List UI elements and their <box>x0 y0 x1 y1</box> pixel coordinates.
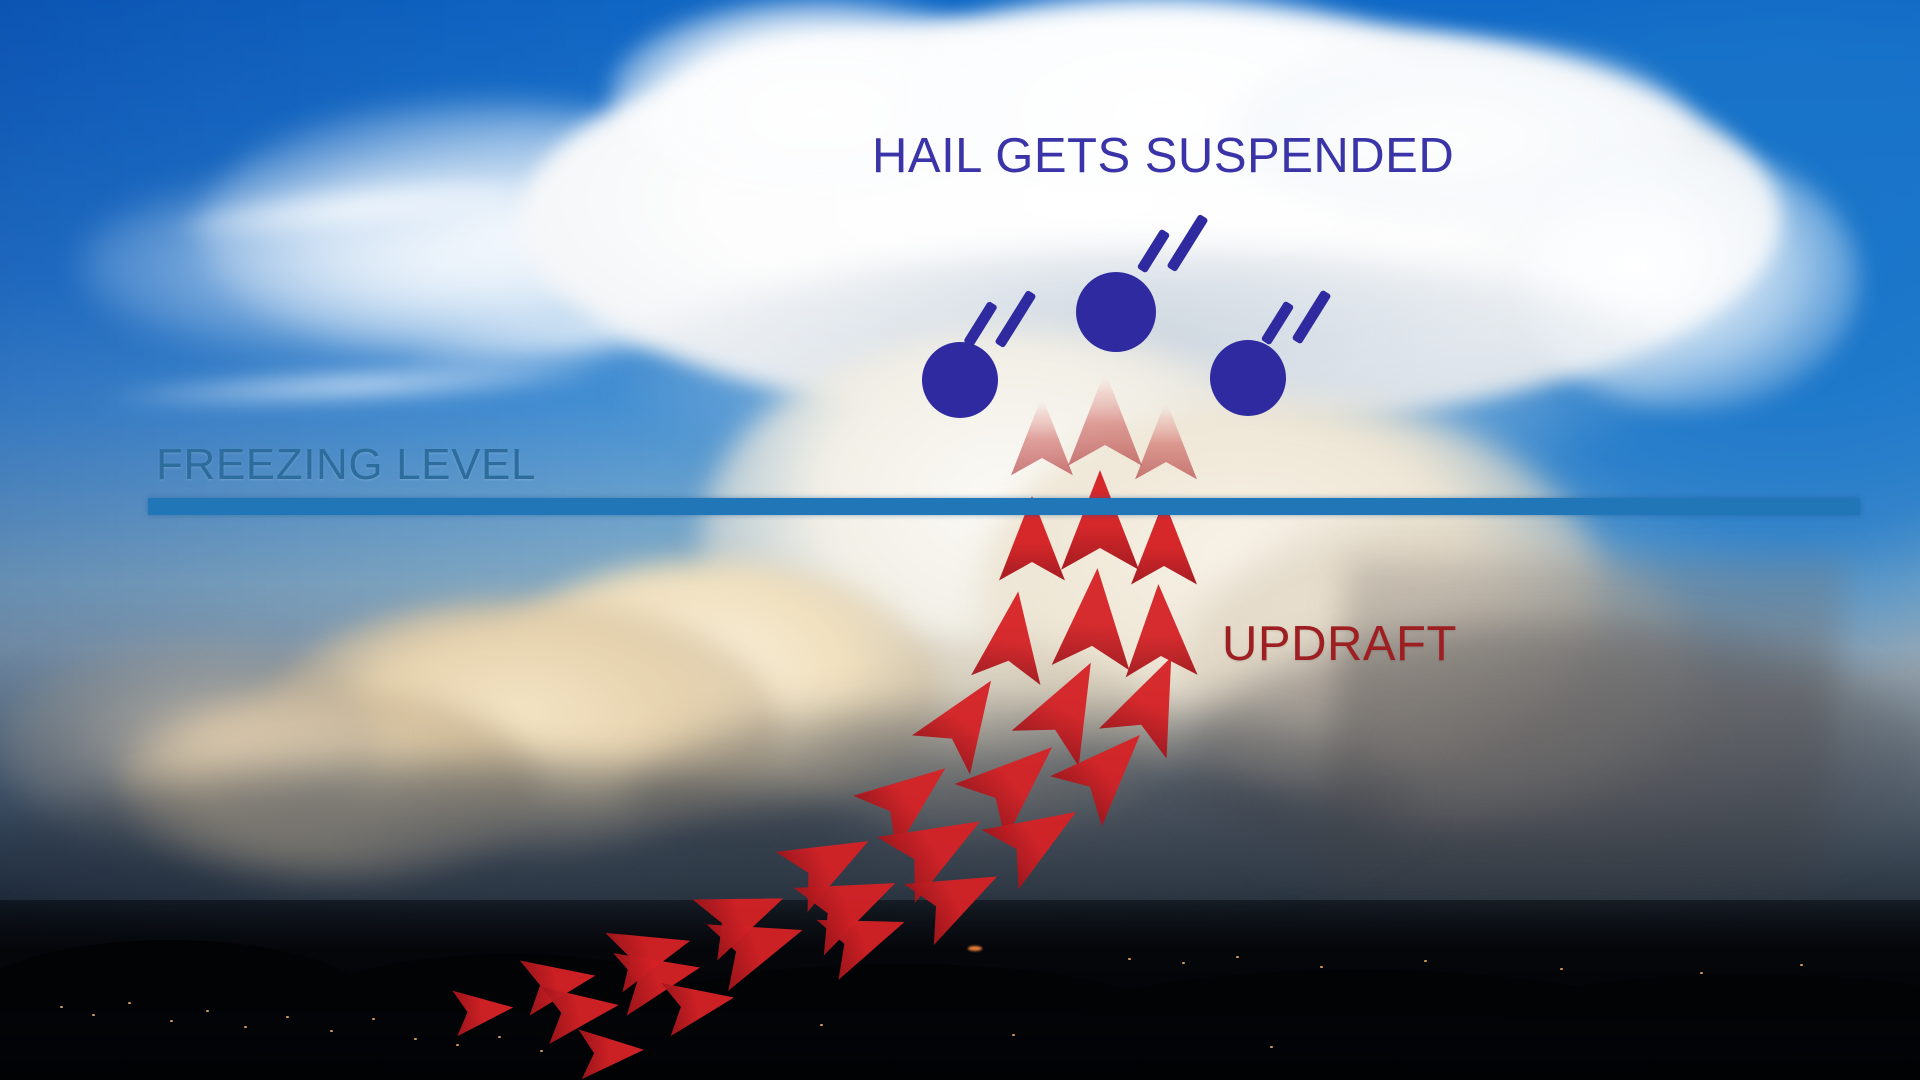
city-light <box>92 1014 95 1016</box>
city-light <box>968 946 982 951</box>
city-light <box>128 1002 131 1004</box>
updraft-arrow <box>1068 371 1142 466</box>
freezing-level-line <box>148 498 1860 515</box>
updraft-arrow <box>971 587 1053 685</box>
freezing-level-label: FREEZING LEVEL <box>156 440 536 490</box>
city-light <box>414 1038 417 1040</box>
city-light <box>1424 960 1427 962</box>
hailstone-1 <box>922 342 998 418</box>
weather-infographic-stage: FREEZING LEVEL HAIL GETS SUSPENDED UPDRA… <box>0 0 1920 1080</box>
city-light <box>286 1016 289 1018</box>
hailstone-2 <box>1076 272 1156 352</box>
city-light <box>456 1044 459 1046</box>
hail-gets-suspended-title: HAIL GETS SUSPENDED <box>872 128 1454 184</box>
city-light <box>244 1026 247 1028</box>
city-light <box>1560 968 1563 970</box>
city-light <box>1012 1034 1015 1036</box>
updraft-label: UPDRAFT <box>1222 616 1457 672</box>
updraft-arrow <box>452 984 515 1036</box>
city-light <box>1700 972 1703 974</box>
city-light <box>540 1050 543 1052</box>
city-light <box>1182 962 1185 964</box>
city-light <box>820 1024 823 1026</box>
hill-ridge <box>1500 974 1920 1018</box>
city-light <box>1270 1046 1273 1048</box>
city-light <box>1128 958 1131 960</box>
updraft-arrow <box>1135 400 1197 479</box>
city-light <box>1800 964 1803 966</box>
city-light <box>330 1030 333 1032</box>
city-light <box>1320 966 1323 968</box>
updraft-arrow <box>1011 396 1073 475</box>
city-light <box>1236 956 1239 958</box>
city-light <box>372 1018 375 1020</box>
city-light <box>498 1036 501 1038</box>
updraft-arrow <box>578 1025 645 1079</box>
city-light <box>206 1010 209 1012</box>
updraft-arrow <box>1061 470 1139 570</box>
hailstone-3 <box>1210 340 1286 416</box>
city-light <box>170 1020 173 1022</box>
city-light <box>60 1006 63 1008</box>
